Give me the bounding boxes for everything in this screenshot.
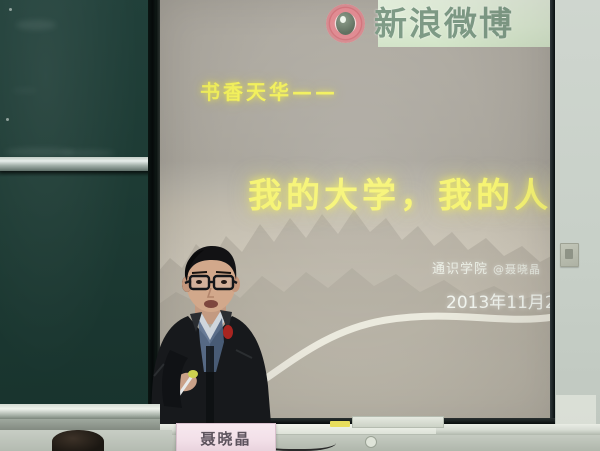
speaker-nameplate: 聂晓晶 <box>176 423 276 451</box>
desk-yellow-tag <box>330 421 350 427</box>
speaker-nameplate-text: 聂晓晶 <box>200 428 251 449</box>
weibo-logo-glint <box>340 16 346 23</box>
chalk-ledge <box>0 404 160 420</box>
screen-frame-right <box>550 0 555 424</box>
slide-title: 我的大学，我的人生 <box>248 168 555 217</box>
presenter <box>140 246 280 436</box>
weibo-banner-text: 新浪微博 <box>374 2 514 45</box>
slide-byline-org: 通识学院 <box>432 262 488 277</box>
back-wall <box>548 0 600 451</box>
slide-byline-handle: @聂晓晶 <box>493 263 541 276</box>
weibo-eye-logo-icon <box>326 4 365 43</box>
wall-socket-icon <box>560 243 579 267</box>
blackboard-rail-shadow <box>0 171 152 177</box>
slide-date: 2013年11月21日 <box>446 288 555 313</box>
audience-head <box>52 430 104 451</box>
lecture-photo: 新浪微博 书香天华—— 我的大学，我的人生 通识学院@聂晓晶 2013年11月2… <box>0 0 600 451</box>
chalk-dot <box>6 118 9 121</box>
chalk-smudge <box>60 150 115 156</box>
desk-equipment-box <box>352 416 444 428</box>
chalk-dot <box>9 8 12 11</box>
chalk-smudge <box>16 20 56 30</box>
blackboard-rail <box>0 157 152 171</box>
weibo-logo-pupil <box>336 12 355 35</box>
blackboard <box>0 0 152 424</box>
chalk-smudge <box>12 88 38 93</box>
desk-knob <box>365 436 377 448</box>
slide-byline: 通识学院@聂晓晶 <box>432 258 541 277</box>
slide-subtitle: 书香天华—— <box>200 76 338 105</box>
